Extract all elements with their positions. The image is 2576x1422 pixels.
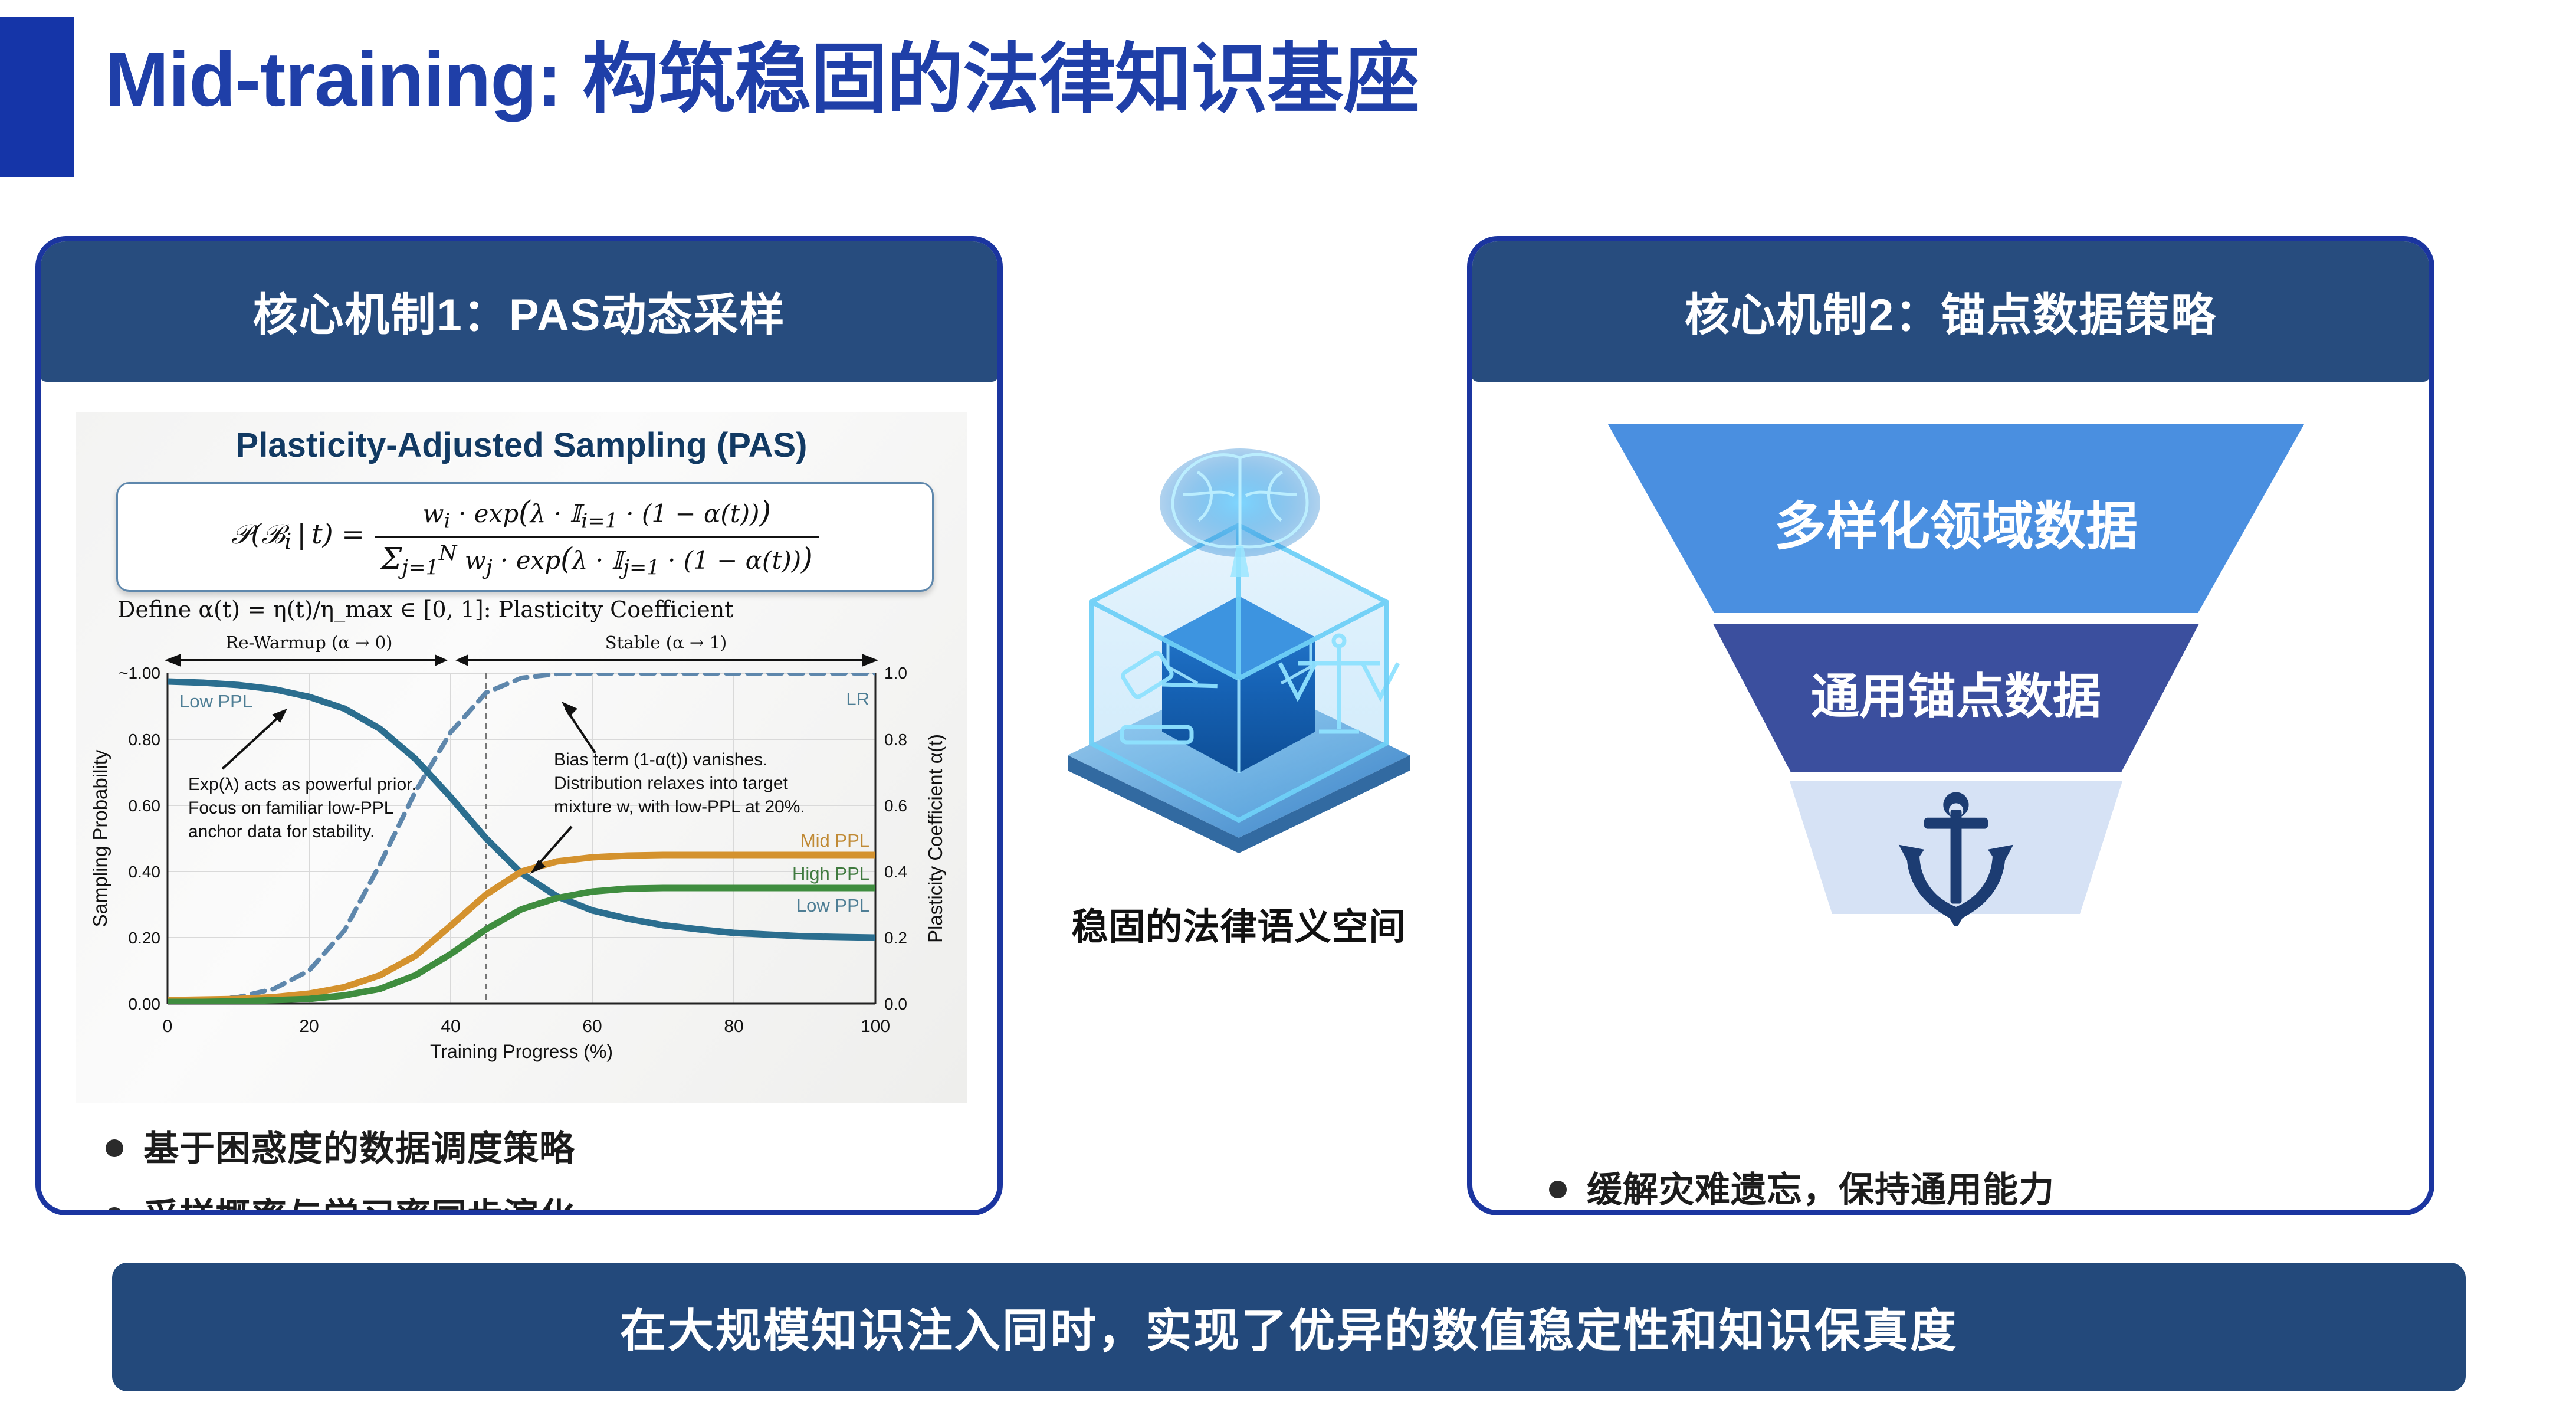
bullet-dot-icon [1549,1181,1567,1198]
figure-title: Plasticity-Adjusted Sampling (PAS) [76,425,967,465]
holographic-legal-cube-icon [1020,425,1457,885]
rewarmup-annotation-line-2: Focus on familiar low-PPL [188,798,393,818]
series-label-low-ppl-left: Low PPL [179,691,252,712]
funnel-segment-1-label: 多样化领域数据 [1774,497,2138,555]
plasticity-definition: Define α(t) = η(t)/η_max ∈ [0, 1]: Plast… [117,597,733,622]
title-accent-bar [0,17,74,177]
pas-formula: 𝒫(ℬi | t) = wi · exp(λ · 𝕀i=1 · (1 − α(t… [231,494,819,579]
y-tick-4: 0.80 [129,730,161,749]
panel-right-header-text: 核心机制2：锚点数据策略 [1685,278,2217,343]
panel-core-mechanism-2: 核心机制2：锚点数据策略 多样化领域数据 通用锚点数据 缓解灾难遗忘，保持通用能… [1467,236,2434,1215]
bullet-text: 采样概率与学习率同步演化 [143,1194,575,1215]
right-panel-bullets: 缓解灾难遗忘，保持通用能力 确保基础能力不退化，维护模型通用底座。 [1549,1168,2387,1215]
x-tick-3: 60 [582,1017,602,1036]
lr-arrow-head [562,702,577,717]
formula-numerator: wi · exp(λ · 𝕀i=1 · (1 − α(t))) [416,494,777,535]
anchor-data-funnel: 多样化领域数据 通用锚点数据 [1531,418,2381,926]
phase-arrow-mid-right [455,654,468,666]
x-tick-0: 0 [163,1017,173,1036]
series-label-mid-ppl: Mid PPL [800,830,869,851]
x-tick-2: 40 [441,1017,460,1036]
left-panel-bullets: 基于困惑度的数据调度策略 采样概率与学习率同步演化 解决数值稳定性挑战，缓解灾难… [106,1126,943,1215]
x-tick-1: 20 [299,1017,319,1036]
phase-arrow-left [165,654,181,667]
panel-left-header-text: 核心机制1：PAS动态采样 [253,278,786,343]
stable-annotation: Bias term (1-α(t)) vanishes. Distributio… [530,702,805,874]
formula-lhs: 𝒫(ℬi | t) = [231,518,365,555]
list-item: 采样概率与学习率同步演化 [106,1194,943,1215]
phase-arrow-mid-left [435,654,448,666]
formula-denominator: Σj=1N wj · exp(λ · 𝕀j=1 · (1 − α(t))) [375,538,819,579]
phase-label-rewarmup: Re-Warmup (α → 0) [225,633,392,653]
x-tick-5: 100 [861,1017,890,1036]
y2-tick-5: 1.0 [884,664,907,682]
panel-right-header: 核心机制2：锚点数据策略 [1471,240,2430,382]
bullet-dot-icon [106,1207,123,1215]
bullet-text: 基于困惑度的数据调度策略 [143,1126,575,1171]
y2-tick-3: 0.6 [884,797,907,815]
chart-y2-ticks: 1.0 0.8 0.6 0.4 0.2 0.0 [884,664,907,1013]
rewarmup-annotation-line-3: anchor data for stability. [188,822,375,841]
phase-arrow-right [862,654,878,667]
y-tick-2: 0.40 [129,863,161,881]
panel-left-header: 核心机制1：PAS动态采样 [40,240,999,382]
list-item: 基于困惑度的数据调度策略 [106,1126,943,1171]
stable-annotation-line-1: Bias term (1-α(t)) vanishes. [554,750,767,769]
summary-banner-text: 在大规模知识注入同时，实现了优异的数值稳定性和知识保真度 [620,1294,1958,1360]
series-label-high-ppl: High PPL [792,863,869,884]
center-caption: 稳固的法律语义空间 [967,897,1510,950]
x-tick-4: 80 [724,1017,743,1036]
panel-core-mechanism-1: 核心机制1：PAS动态采样 Plasticity-Adjusted Sampli… [35,236,1003,1215]
y-tick-3: 0.60 [129,797,161,815]
chart-x-ticks: 0 20 40 60 80 100 [163,1017,890,1036]
list-item: 缓解灾难遗忘，保持通用能力 [1549,1168,2387,1212]
summary-banner: 在大规模知识注入同时，实现了优异的数值稳定性和知识保真度 [112,1263,2466,1391]
y2-tick-2: 0.4 [884,863,907,881]
funnel-segment-2-label: 通用锚点数据 [1811,670,2101,724]
series-label-low-ppl-right: Low PPL [796,895,869,916]
y2-tick-4: 0.8 [884,730,907,749]
pas-formula-box: 𝒫(ℬi | t) = wi · exp(λ · 𝕀i=1 · (1 − α(t… [116,482,934,592]
rewarmup-annotation-line-1: Exp(λ) acts as powerful prior. [188,775,416,794]
page-title: Mid-training: 构筑稳固的法律知识基座 [105,24,1419,135]
series-label-lr: LR [846,689,869,709]
formula-fraction: wi · exp(λ · 𝕀i=1 · (1 − α(t))) Σj=1N wj… [375,494,819,579]
x-axis-label: Training Progress (%) [430,1041,613,1062]
stable-annotation-line-3: mixture w, with low-PPL at 20%. [554,797,805,817]
series-high-ppl-line [168,888,875,1002]
y-axis-label: Sampling Probability [89,749,111,927]
chart-y-ticks: ~1.00 0.80 0.60 0.40 0.20 0.00 [119,664,160,1013]
y2-axis-label: Plasticity Coefficient α(t) [924,734,946,943]
stable-annotation-line-2: Distribution relaxes into target [554,774,789,793]
y-tick-0: 0.00 [129,995,161,1013]
pas-figure: Plasticity-Adjusted Sampling (PAS) 𝒫(ℬi … [76,412,967,1103]
y-tick-1: 0.20 [129,929,161,947]
bullet-dot-icon [106,1139,123,1157]
bullet-text: 缓解灾难遗忘，保持通用能力 [1587,1168,2055,1212]
phase-label-stable: Stable (α → 1) [605,633,727,653]
y-tick-5: ~1.00 [119,664,160,682]
rewarmup-annotation-arrow [222,715,281,769]
pas-chart-svg: Re-Warmup (α → 0) Stable (α → 1) ~1.00 0… [76,632,967,1098]
y2-tick-1: 0.2 [884,929,907,947]
pas-chart: Re-Warmup (α → 0) Stable (α → 1) ~1.00 0… [76,632,967,1098]
y2-tick-0: 0.0 [884,995,907,1013]
